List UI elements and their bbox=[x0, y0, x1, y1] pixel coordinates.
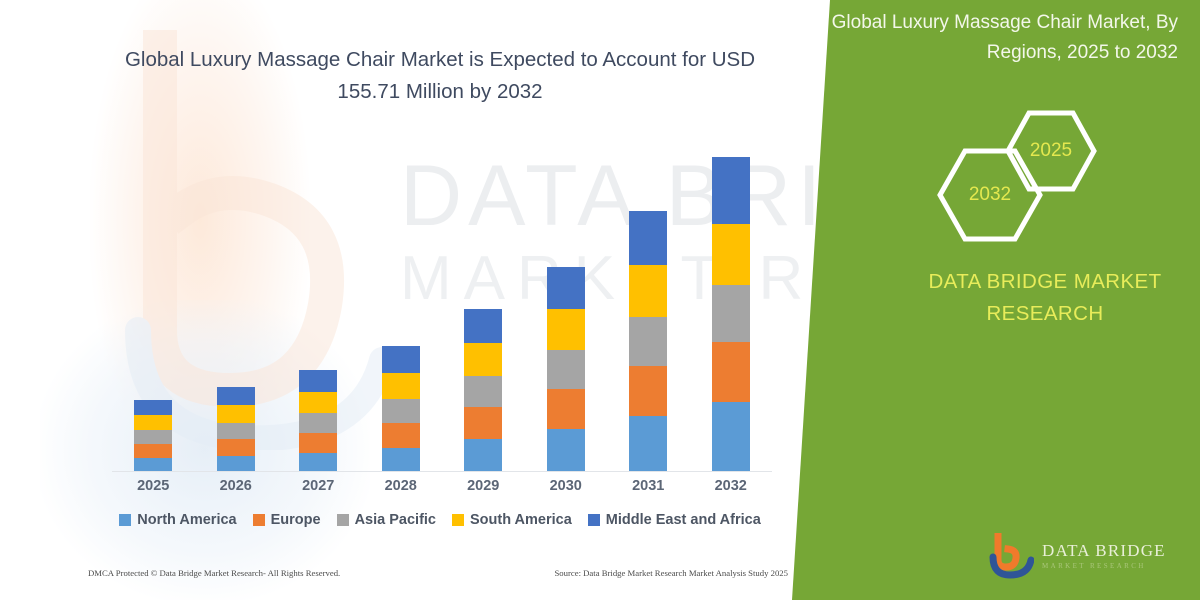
bar-column bbox=[197, 140, 275, 472]
x-axis-tick-2026: 2026 bbox=[197, 478, 275, 494]
bar-segment bbox=[299, 413, 337, 433]
bar-segment bbox=[629, 416, 667, 472]
bar-segment bbox=[134, 415, 172, 430]
footer-copyright: DMCA Protected © Data Bridge Market Rese… bbox=[88, 568, 340, 578]
bar-column bbox=[609, 140, 687, 472]
bar-segment bbox=[382, 373, 420, 399]
stacked-bar-2027 bbox=[299, 370, 337, 472]
bar-segment bbox=[712, 224, 750, 285]
legend-label: South America bbox=[470, 512, 572, 528]
x-axis-tick-2032: 2032 bbox=[692, 478, 770, 494]
bar-segment bbox=[629, 317, 667, 366]
bar-segment bbox=[299, 392, 337, 413]
company-logo-title: DATA BRIDGE bbox=[1042, 542, 1166, 559]
stacked-bar-2028 bbox=[382, 346, 420, 472]
x-axis-tick-2028: 2028 bbox=[362, 478, 440, 494]
x-axis-labels: 20252026202720282029203020312032 bbox=[112, 478, 772, 494]
bar-segment bbox=[547, 309, 585, 350]
x-axis-tick-2027: 2027 bbox=[279, 478, 357, 494]
bar-segment bbox=[134, 444, 172, 458]
bar-segment bbox=[629, 211, 667, 265]
bar-series-group bbox=[112, 140, 772, 472]
footer: DMCA Protected © Data Bridge Market Rese… bbox=[88, 568, 788, 578]
brand-line-2: RESEARCH bbox=[900, 298, 1190, 330]
hexagon-badge-2032: 2032 bbox=[935, 146, 1045, 244]
bar-segment bbox=[382, 399, 420, 423]
bar-segment bbox=[134, 458, 172, 472]
bar-segment bbox=[382, 448, 420, 472]
stacked-bar-2026 bbox=[217, 387, 255, 472]
brand-name: DATA BRIDGE MARKET RESEARCH bbox=[900, 266, 1190, 330]
bar-column bbox=[692, 140, 770, 472]
legend-item[interactable]: Europe bbox=[253, 512, 321, 528]
chart-panel: DATA BRIDGE MARKET RESEARCH Global Luxur… bbox=[0, 0, 860, 600]
bar-segment bbox=[629, 366, 667, 416]
stacked-bar-2025 bbox=[134, 400, 172, 472]
legend-item[interactable]: North America bbox=[119, 512, 236, 528]
bar-column bbox=[527, 140, 605, 472]
x-axis-tick-2031: 2031 bbox=[609, 478, 687, 494]
legend-swatch-icon bbox=[588, 514, 600, 526]
infographic-canvas: DATA BRIDGE MARKET RESEARCH Global Luxur… bbox=[0, 0, 1200, 600]
plot-area bbox=[112, 140, 772, 472]
bar-segment bbox=[134, 400, 172, 415]
chart-legend: North AmericaEuropeAsia PacificSouth Ame… bbox=[100, 512, 780, 528]
chart-title: Global Luxury Massage Chair Market is Ex… bbox=[110, 44, 770, 108]
legend-swatch-icon bbox=[452, 514, 464, 526]
bar-segment bbox=[547, 267, 585, 309]
legend-swatch-icon bbox=[253, 514, 265, 526]
x-axis-tick-2030: 2030 bbox=[527, 478, 605, 494]
legend-label: North America bbox=[137, 512, 236, 528]
bar-segment bbox=[712, 157, 750, 224]
hexagon-label-2025: 2025 bbox=[1030, 140, 1072, 162]
x-axis-tick-2025: 2025 bbox=[114, 478, 192, 494]
stacked-bar-2030 bbox=[547, 267, 585, 472]
stacked-bar-2032 bbox=[712, 157, 750, 472]
bar-segment bbox=[382, 423, 420, 448]
bar-segment bbox=[712, 402, 750, 472]
legend-label: Europe bbox=[271, 512, 321, 528]
legend-swatch-icon bbox=[119, 514, 131, 526]
footer-source: Source: Data Bridge Market Research Mark… bbox=[554, 568, 788, 578]
bar-segment bbox=[299, 433, 337, 453]
x-axis-line bbox=[112, 471, 772, 472]
bar-segment bbox=[382, 346, 420, 373]
bar-segment bbox=[217, 439, 255, 456]
bar-segment bbox=[464, 439, 502, 472]
bar-segment bbox=[464, 309, 502, 343]
bar-column bbox=[279, 140, 357, 472]
brand-panel-title: Global Luxury Massage Chair Market, By R… bbox=[826, 8, 1178, 69]
bar-segment bbox=[217, 423, 255, 439]
legend-label: Middle East and Africa bbox=[606, 512, 761, 528]
year-hexagons: 2025 2032 bbox=[925, 108, 1125, 233]
bar-segment bbox=[134, 430, 172, 444]
company-logo-subtitle: MARKET RESEARCH bbox=[1042, 563, 1166, 570]
bar-segment bbox=[547, 429, 585, 472]
bar-segment bbox=[712, 342, 750, 402]
bar-segment bbox=[464, 343, 502, 376]
bar-segment bbox=[629, 265, 667, 317]
bar-segment bbox=[464, 407, 502, 439]
company-logo: DATA BRIDGE MARKET RESEARCH bbox=[988, 528, 1188, 584]
bar-column bbox=[444, 140, 522, 472]
data-bridge-logo-icon bbox=[988, 533, 1034, 579]
bar-segment bbox=[217, 387, 255, 405]
bar-segment bbox=[547, 350, 585, 389]
bar-segment bbox=[299, 370, 337, 392]
legend-swatch-icon bbox=[337, 514, 349, 526]
hexagon-label-2032: 2032 bbox=[969, 184, 1011, 206]
bar-segment bbox=[299, 453, 337, 472]
bar-segment bbox=[464, 376, 502, 407]
bar-column bbox=[114, 140, 192, 472]
legend-item[interactable]: South America bbox=[452, 512, 572, 528]
stacked-bar-2029 bbox=[464, 309, 502, 472]
legend-label: Asia Pacific bbox=[355, 512, 436, 528]
bar-segment bbox=[712, 285, 750, 342]
brand-line-1: DATA BRIDGE MARKET bbox=[900, 266, 1190, 298]
stacked-bar-2031 bbox=[629, 211, 667, 472]
bar-segment bbox=[217, 456, 255, 472]
bar-segment bbox=[217, 405, 255, 423]
legend-item[interactable]: Asia Pacific bbox=[337, 512, 436, 528]
bar-segment bbox=[547, 389, 585, 429]
x-axis-tick-2029: 2029 bbox=[444, 478, 522, 494]
bar-column bbox=[362, 140, 440, 472]
company-logo-text: DATA BRIDGE MARKET RESEARCH bbox=[1042, 542, 1166, 570]
legend-item[interactable]: Middle East and Africa bbox=[588, 512, 761, 528]
